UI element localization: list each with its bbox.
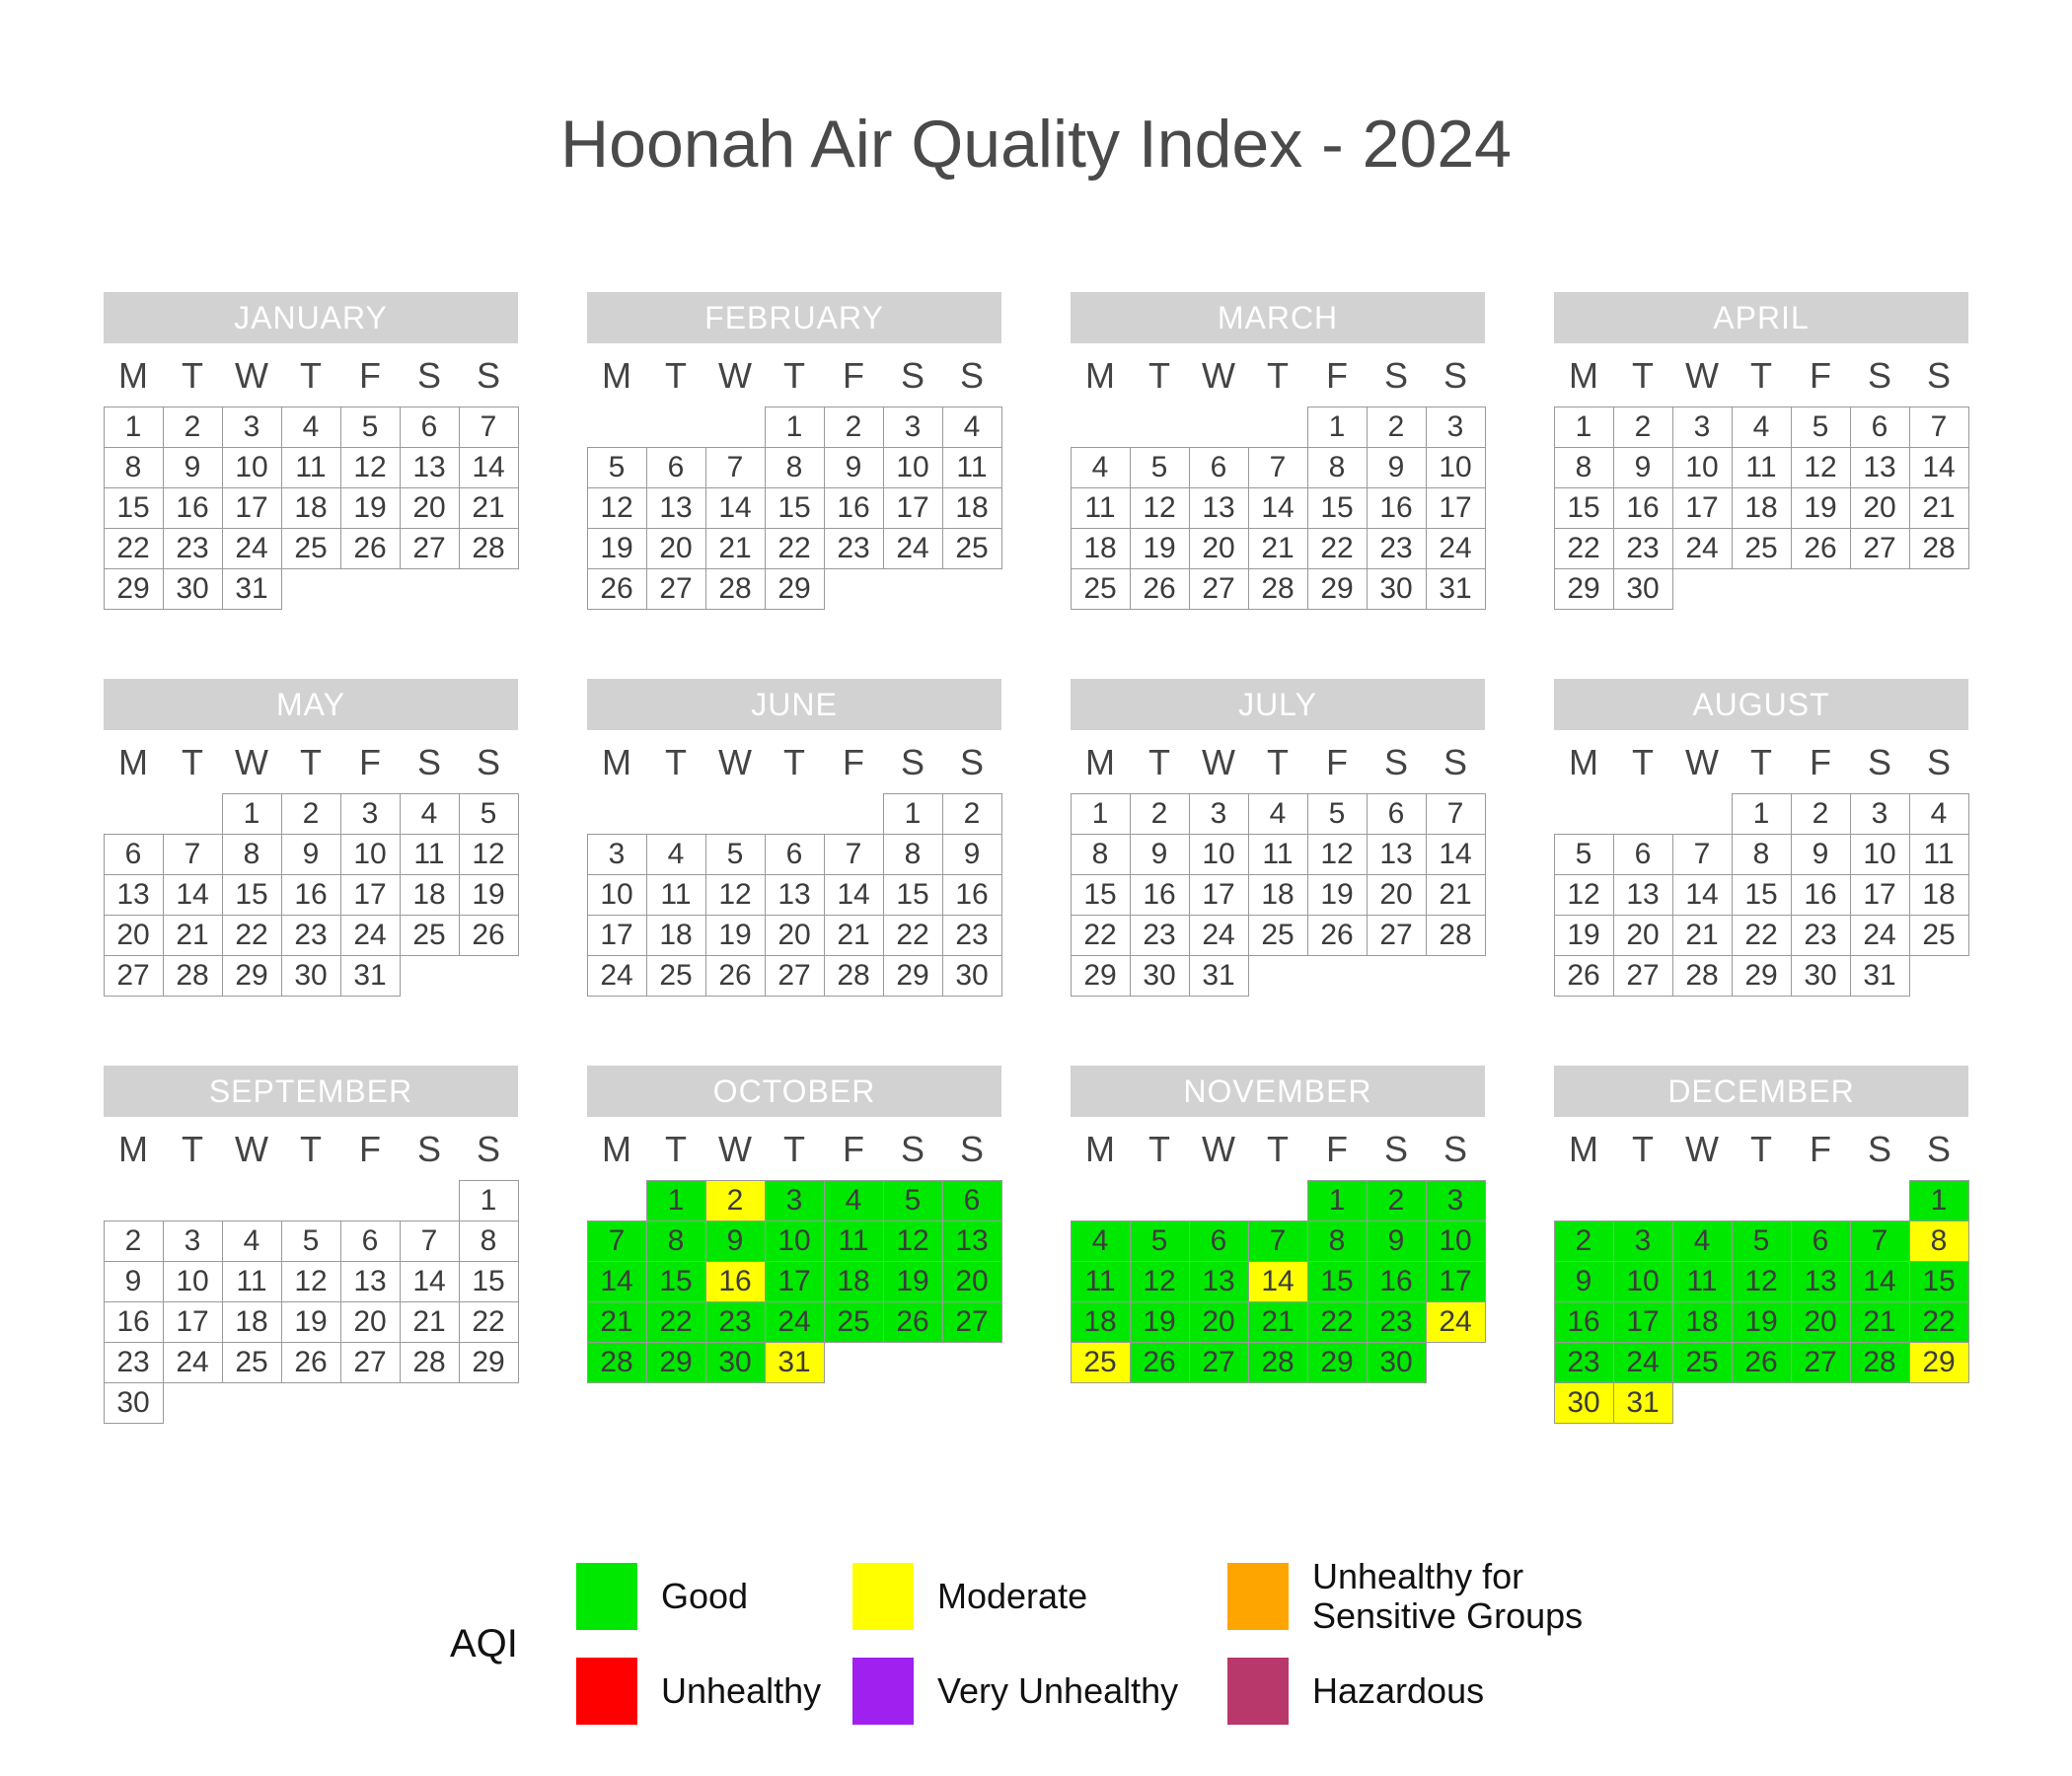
day-cell[interactable]: 7: [1426, 793, 1486, 835]
day-cell[interactable]: 28: [1248, 1342, 1308, 1383]
day-cell[interactable]: 20: [340, 1301, 401, 1343]
day-cell[interactable]: 6: [765, 834, 825, 875]
day-cell[interactable]: 9: [1613, 447, 1673, 488]
day-cell[interactable]: 21: [1850, 1301, 1910, 1343]
day-cell[interactable]: 29: [765, 568, 825, 610]
day-cell[interactable]: 10: [163, 1261, 223, 1302]
day-cell[interactable]: 10: [1613, 1261, 1673, 1302]
day-cell[interactable]: 13: [400, 447, 460, 488]
day-cell[interactable]: 15: [104, 487, 164, 529]
day-cell[interactable]: 9: [705, 1221, 766, 1262]
day-cell[interactable]: 13: [942, 1221, 1002, 1262]
day-cell[interactable]: 8: [883, 834, 943, 875]
day-cell[interactable]: 10: [587, 874, 647, 916]
day-cell[interactable]: 11: [942, 447, 1002, 488]
day-cell[interactable]: 24: [1426, 528, 1486, 569]
day-cell[interactable]: 12: [1130, 487, 1190, 529]
day-cell[interactable]: 29: [104, 568, 164, 610]
day-cell[interactable]: 2: [281, 793, 341, 835]
day-cell[interactable]: 31: [222, 568, 282, 610]
day-cell[interactable]: 16: [163, 487, 223, 529]
day-cell[interactable]: 30: [1554, 1382, 1614, 1424]
day-cell[interactable]: 14: [1248, 487, 1308, 529]
day-cell[interactable]: 22: [1909, 1301, 1969, 1343]
day-cell[interactable]: 2: [163, 407, 223, 448]
day-cell[interactable]: 22: [1307, 1301, 1368, 1343]
day-cell[interactable]: 19: [1791, 487, 1851, 529]
day-cell[interactable]: 25: [400, 915, 460, 956]
day-cell[interactable]: 16: [1613, 487, 1673, 529]
day-cell[interactable]: 29: [1909, 1342, 1969, 1383]
day-cell[interactable]: 3: [1426, 407, 1486, 448]
day-cell[interactable]: 7: [1909, 407, 1969, 448]
day-cell[interactable]: 27: [340, 1342, 401, 1383]
day-cell[interactable]: 22: [765, 528, 825, 569]
day-cell[interactable]: 19: [1307, 874, 1368, 916]
day-cell[interactable]: 29: [1307, 568, 1368, 610]
day-cell[interactable]: 11: [1071, 487, 1131, 529]
day-cell[interactable]: 3: [883, 407, 943, 448]
day-cell[interactable]: 21: [705, 528, 766, 569]
day-cell[interactable]: 17: [1613, 1301, 1673, 1343]
day-cell[interactable]: 10: [1426, 447, 1486, 488]
day-cell[interactable]: 7: [400, 1221, 460, 1262]
day-cell[interactable]: 8: [1909, 1221, 1969, 1262]
day-cell[interactable]: 5: [1791, 407, 1851, 448]
day-cell[interactable]: 3: [1850, 793, 1910, 835]
day-cell[interactable]: 27: [1613, 955, 1673, 997]
day-cell[interactable]: 16: [1367, 1261, 1427, 1302]
day-cell[interactable]: 3: [1613, 1221, 1673, 1262]
day-cell[interactable]: 23: [705, 1301, 766, 1343]
day-cell[interactable]: 3: [163, 1221, 223, 1262]
day-cell[interactable]: 1: [646, 1180, 706, 1221]
day-cell[interactable]: 1: [1307, 1180, 1368, 1221]
day-cell[interactable]: 22: [1554, 528, 1614, 569]
day-cell[interactable]: 25: [1732, 528, 1792, 569]
day-cell[interactable]: 19: [1554, 915, 1614, 956]
day-cell[interactable]: 8: [1307, 1221, 1368, 1262]
day-cell[interactable]: 9: [281, 834, 341, 875]
day-cell[interactable]: 4: [1071, 447, 1131, 488]
day-cell[interactable]: 28: [1672, 955, 1733, 997]
day-cell[interactable]: 5: [1130, 447, 1190, 488]
day-cell[interactable]: 6: [1850, 407, 1910, 448]
day-cell[interactable]: 21: [1426, 874, 1486, 916]
day-cell[interactable]: 23: [163, 528, 223, 569]
day-cell[interactable]: 17: [340, 874, 401, 916]
day-cell[interactable]: 5: [883, 1180, 943, 1221]
day-cell[interactable]: 14: [587, 1261, 647, 1302]
day-cell[interactable]: 25: [824, 1301, 884, 1343]
day-cell[interactable]: 7: [705, 447, 766, 488]
day-cell[interactable]: 24: [1672, 528, 1733, 569]
day-cell[interactable]: 16: [824, 487, 884, 529]
day-cell[interactable]: 11: [400, 834, 460, 875]
day-cell[interactable]: 1: [1554, 407, 1614, 448]
day-cell[interactable]: 30: [104, 1382, 164, 1424]
day-cell[interactable]: 25: [1909, 915, 1969, 956]
day-cell[interactable]: 1: [222, 793, 282, 835]
day-cell[interactable]: 1: [104, 407, 164, 448]
day-cell[interactable]: 11: [281, 447, 341, 488]
day-cell[interactable]: 10: [1189, 834, 1249, 875]
day-cell[interactable]: 11: [1672, 1261, 1733, 1302]
day-cell[interactable]: 28: [1850, 1342, 1910, 1383]
day-cell[interactable]: 3: [222, 407, 282, 448]
day-cell[interactable]: 27: [765, 955, 825, 997]
day-cell[interactable]: 27: [400, 528, 460, 569]
day-cell[interactable]: 4: [1672, 1221, 1733, 1262]
day-cell[interactable]: 12: [340, 447, 401, 488]
day-cell[interactable]: 5: [281, 1221, 341, 1262]
day-cell[interactable]: 6: [1189, 447, 1249, 488]
day-cell[interactable]: 19: [281, 1301, 341, 1343]
day-cell[interactable]: 5: [705, 834, 766, 875]
day-cell[interactable]: 7: [587, 1221, 647, 1262]
day-cell[interactable]: 27: [1367, 915, 1427, 956]
day-cell[interactable]: 2: [1613, 407, 1673, 448]
day-cell[interactable]: 3: [1426, 1180, 1486, 1221]
day-cell[interactable]: 4: [281, 407, 341, 448]
day-cell[interactable]: 2: [1367, 1180, 1427, 1221]
day-cell[interactable]: 14: [705, 487, 766, 529]
day-cell[interactable]: 9: [1367, 1221, 1427, 1262]
day-cell[interactable]: 24: [163, 1342, 223, 1383]
day-cell[interactable]: 7: [1672, 834, 1733, 875]
day-cell[interactable]: 18: [1909, 874, 1969, 916]
day-cell[interactable]: 29: [1554, 568, 1614, 610]
day-cell[interactable]: 24: [1850, 915, 1910, 956]
day-cell[interactable]: 19: [705, 915, 766, 956]
day-cell[interactable]: 13: [1189, 487, 1249, 529]
day-cell[interactable]: 18: [646, 915, 706, 956]
day-cell[interactable]: 25: [1071, 568, 1131, 610]
day-cell[interactable]: 27: [104, 955, 164, 997]
day-cell[interactable]: 13: [1613, 874, 1673, 916]
day-cell[interactable]: 15: [1909, 1261, 1969, 1302]
day-cell[interactable]: 23: [824, 528, 884, 569]
day-cell[interactable]: 28: [1909, 528, 1969, 569]
day-cell[interactable]: 12: [1554, 874, 1614, 916]
day-cell[interactable]: 21: [459, 487, 519, 529]
day-cell[interactable]: 31: [1850, 955, 1910, 997]
day-cell[interactable]: 28: [824, 955, 884, 997]
day-cell[interactable]: 29: [883, 955, 943, 997]
day-cell[interactable]: 26: [459, 915, 519, 956]
day-cell[interactable]: 20: [104, 915, 164, 956]
day-cell[interactable]: 5: [1732, 1221, 1792, 1262]
day-cell[interactable]: 30: [1367, 1342, 1427, 1383]
day-cell[interactable]: 27: [942, 1301, 1002, 1343]
day-cell[interactable]: 16: [104, 1301, 164, 1343]
day-cell[interactable]: 14: [1426, 834, 1486, 875]
day-cell[interactable]: 15: [646, 1261, 706, 1302]
day-cell[interactable]: 15: [1307, 487, 1368, 529]
day-cell[interactable]: 15: [1307, 1261, 1368, 1302]
day-cell[interactable]: 12: [1130, 1261, 1190, 1302]
day-cell[interactable]: 22: [883, 915, 943, 956]
day-cell[interactable]: 7: [1850, 1221, 1910, 1262]
day-cell[interactable]: 23: [104, 1342, 164, 1383]
day-cell[interactable]: 25: [1071, 1342, 1131, 1383]
day-cell[interactable]: 2: [824, 407, 884, 448]
day-cell[interactable]: 20: [942, 1261, 1002, 1302]
day-cell[interactable]: 13: [1189, 1261, 1249, 1302]
day-cell[interactable]: 24: [222, 528, 282, 569]
day-cell[interactable]: 2: [1367, 407, 1427, 448]
day-cell[interactable]: 18: [1248, 874, 1308, 916]
day-cell[interactable]: 14: [1672, 874, 1733, 916]
day-cell[interactable]: 20: [1791, 1301, 1851, 1343]
day-cell[interactable]: 29: [1732, 955, 1792, 997]
day-cell[interactable]: 2: [942, 793, 1002, 835]
day-cell[interactable]: 25: [281, 528, 341, 569]
day-cell[interactable]: 19: [883, 1261, 943, 1302]
day-cell[interactable]: 13: [340, 1261, 401, 1302]
day-cell[interactable]: 6: [1791, 1221, 1851, 1262]
day-cell[interactable]: 17: [163, 1301, 223, 1343]
day-cell[interactable]: 15: [883, 874, 943, 916]
day-cell[interactable]: 30: [1367, 568, 1427, 610]
day-cell[interactable]: 12: [1791, 447, 1851, 488]
day-cell[interactable]: 4: [1732, 407, 1792, 448]
day-cell[interactable]: 22: [1071, 915, 1131, 956]
day-cell[interactable]: 6: [1367, 793, 1427, 835]
day-cell[interactable]: 8: [222, 834, 282, 875]
day-cell[interactable]: 6: [104, 834, 164, 875]
day-cell[interactable]: 11: [222, 1261, 282, 1302]
day-cell[interactable]: 17: [1672, 487, 1733, 529]
day-cell[interactable]: 4: [646, 834, 706, 875]
day-cell[interactable]: 14: [163, 874, 223, 916]
day-cell[interactable]: 13: [1791, 1261, 1851, 1302]
day-cell[interactable]: 26: [1130, 1342, 1190, 1383]
day-cell[interactable]: 11: [1909, 834, 1969, 875]
day-cell[interactable]: 29: [459, 1342, 519, 1383]
day-cell[interactable]: 27: [646, 568, 706, 610]
day-cell[interactable]: 18: [222, 1301, 282, 1343]
day-cell[interactable]: 26: [883, 1301, 943, 1343]
day-cell[interactable]: 4: [400, 793, 460, 835]
day-cell[interactable]: 13: [1367, 834, 1427, 875]
day-cell[interactable]: 25: [646, 955, 706, 997]
day-cell[interactable]: 24: [340, 915, 401, 956]
day-cell[interactable]: 6: [646, 447, 706, 488]
day-cell[interactable]: 18: [942, 487, 1002, 529]
day-cell[interactable]: 23: [1613, 528, 1673, 569]
day-cell[interactable]: 11: [1071, 1261, 1131, 1302]
day-cell[interactable]: 10: [1672, 447, 1733, 488]
day-cell[interactable]: 28: [587, 1342, 647, 1383]
day-cell[interactable]: 16: [1367, 487, 1427, 529]
day-cell[interactable]: 9: [824, 447, 884, 488]
day-cell[interactable]: 21: [1672, 915, 1733, 956]
day-cell[interactable]: 21: [587, 1301, 647, 1343]
day-cell[interactable]: 5: [1130, 1221, 1190, 1262]
day-cell[interactable]: 19: [1732, 1301, 1792, 1343]
day-cell[interactable]: 1: [883, 793, 943, 835]
day-cell[interactable]: 30: [942, 955, 1002, 997]
day-cell[interactable]: 25: [1248, 915, 1308, 956]
day-cell[interactable]: 3: [340, 793, 401, 835]
day-cell[interactable]: 16: [1554, 1301, 1614, 1343]
day-cell[interactable]: 2: [1791, 793, 1851, 835]
day-cell[interactable]: 21: [1248, 528, 1308, 569]
day-cell[interactable]: 16: [942, 874, 1002, 916]
day-cell[interactable]: 10: [340, 834, 401, 875]
day-cell[interactable]: 21: [824, 915, 884, 956]
day-cell[interactable]: 24: [587, 955, 647, 997]
day-cell[interactable]: 12: [587, 487, 647, 529]
day-cell[interactable]: 8: [646, 1221, 706, 1262]
day-cell[interactable]: 4: [942, 407, 1002, 448]
day-cell[interactable]: 2: [1554, 1221, 1614, 1262]
day-cell[interactable]: 23: [1130, 915, 1190, 956]
day-cell[interactable]: 10: [1426, 1221, 1486, 1262]
day-cell[interactable]: 23: [281, 915, 341, 956]
day-cell[interactable]: 19: [459, 874, 519, 916]
day-cell[interactable]: 14: [1909, 447, 1969, 488]
day-cell[interactable]: 1: [459, 1180, 519, 1221]
day-cell[interactable]: 15: [459, 1261, 519, 1302]
day-cell[interactable]: 15: [222, 874, 282, 916]
day-cell[interactable]: 15: [1071, 874, 1131, 916]
day-cell[interactable]: 8: [765, 447, 825, 488]
day-cell[interactable]: 20: [400, 487, 460, 529]
day-cell[interactable]: 16: [1791, 874, 1851, 916]
day-cell[interactable]: 6: [942, 1180, 1002, 1221]
day-cell[interactable]: 14: [1248, 1261, 1308, 1302]
day-cell[interactable]: 30: [281, 955, 341, 997]
day-cell[interactable]: 5: [1307, 793, 1368, 835]
day-cell[interactable]: 21: [1248, 1301, 1308, 1343]
day-cell[interactable]: 3: [1672, 407, 1733, 448]
day-cell[interactable]: 10: [222, 447, 282, 488]
day-cell[interactable]: 26: [1554, 955, 1614, 997]
day-cell[interactable]: 11: [1732, 447, 1792, 488]
day-cell[interactable]: 14: [824, 874, 884, 916]
day-cell[interactable]: 12: [459, 834, 519, 875]
day-cell[interactable]: 5: [587, 447, 647, 488]
day-cell[interactable]: 31: [1189, 955, 1249, 997]
day-cell[interactable]: 22: [104, 528, 164, 569]
day-cell[interactable]: 4: [1071, 1221, 1131, 1262]
day-cell[interactable]: 9: [1554, 1261, 1614, 1302]
day-cell[interactable]: 24: [1613, 1342, 1673, 1383]
day-cell[interactable]: 31: [765, 1342, 825, 1383]
day-cell[interactable]: 19: [1130, 1301, 1190, 1343]
day-cell[interactable]: 26: [587, 568, 647, 610]
day-cell[interactable]: 16: [705, 1261, 766, 1302]
day-cell[interactable]: 7: [163, 834, 223, 875]
day-cell[interactable]: 11: [1248, 834, 1308, 875]
day-cell[interactable]: 26: [1791, 528, 1851, 569]
day-cell[interactable]: 25: [942, 528, 1002, 569]
day-cell[interactable]: 26: [1307, 915, 1368, 956]
day-cell[interactable]: 30: [163, 568, 223, 610]
day-cell[interactable]: 28: [1426, 915, 1486, 956]
day-cell[interactable]: 16: [1130, 874, 1190, 916]
day-cell[interactable]: 17: [883, 487, 943, 529]
day-cell[interactable]: 1: [1732, 793, 1792, 835]
day-cell[interactable]: 22: [1307, 528, 1368, 569]
day-cell[interactable]: 30: [1791, 955, 1851, 997]
day-cell[interactable]: 18: [1071, 1301, 1131, 1343]
day-cell[interactable]: 6: [400, 407, 460, 448]
day-cell[interactable]: 15: [765, 487, 825, 529]
day-cell[interactable]: 22: [646, 1301, 706, 1343]
day-cell[interactable]: 31: [1613, 1382, 1673, 1424]
day-cell[interactable]: 23: [1554, 1342, 1614, 1383]
day-cell[interactable]: 13: [104, 874, 164, 916]
day-cell[interactable]: 18: [824, 1261, 884, 1302]
day-cell[interactable]: 9: [104, 1261, 164, 1302]
day-cell[interactable]: 19: [340, 487, 401, 529]
day-cell[interactable]: 25: [1672, 1342, 1733, 1383]
day-cell[interactable]: 24: [883, 528, 943, 569]
day-cell[interactable]: 11: [824, 1221, 884, 1262]
day-cell[interactable]: 23: [1367, 528, 1427, 569]
day-cell[interactable]: 9: [1367, 447, 1427, 488]
day-cell[interactable]: 29: [222, 955, 282, 997]
day-cell[interactable]: 28: [705, 568, 766, 610]
day-cell[interactable]: 31: [340, 955, 401, 997]
day-cell[interactable]: 8: [1732, 834, 1792, 875]
day-cell[interactable]: 17: [1189, 874, 1249, 916]
day-cell[interactable]: 20: [646, 528, 706, 569]
day-cell[interactable]: 9: [942, 834, 1002, 875]
day-cell[interactable]: 26: [705, 955, 766, 997]
day-cell[interactable]: 20: [765, 915, 825, 956]
day-cell[interactable]: 7: [824, 834, 884, 875]
day-cell[interactable]: 13: [1850, 447, 1910, 488]
day-cell[interactable]: 26: [1732, 1342, 1792, 1383]
day-cell[interactable]: 15: [1554, 487, 1614, 529]
day-cell[interactable]: 25: [222, 1342, 282, 1383]
day-cell[interactable]: 5: [459, 793, 519, 835]
day-cell[interactable]: 9: [1791, 834, 1851, 875]
day-cell[interactable]: 11: [646, 874, 706, 916]
day-cell[interactable]: 27: [1850, 528, 1910, 569]
day-cell[interactable]: 22: [1732, 915, 1792, 956]
day-cell[interactable]: 28: [163, 955, 223, 997]
day-cell[interactable]: 4: [1248, 793, 1308, 835]
day-cell[interactable]: 20: [1189, 528, 1249, 569]
day-cell[interactable]: 13: [765, 874, 825, 916]
day-cell[interactable]: 26: [281, 1342, 341, 1383]
day-cell[interactable]: 4: [222, 1221, 282, 1262]
day-cell[interactable]: 17: [587, 915, 647, 956]
day-cell[interactable]: 23: [942, 915, 1002, 956]
day-cell[interactable]: 10: [883, 447, 943, 488]
day-cell[interactable]: 20: [1367, 874, 1427, 916]
day-cell[interactable]: 4: [1909, 793, 1969, 835]
day-cell[interactable]: 14: [1850, 1261, 1910, 1302]
day-cell[interactable]: 1: [1909, 1180, 1969, 1221]
day-cell[interactable]: 23: [1791, 915, 1851, 956]
day-cell[interactable]: 2: [1130, 793, 1190, 835]
day-cell[interactable]: 18: [1732, 487, 1792, 529]
day-cell[interactable]: 27: [1189, 568, 1249, 610]
day-cell[interactable]: 21: [163, 915, 223, 956]
day-cell[interactable]: 28: [1248, 568, 1308, 610]
day-cell[interactable]: 9: [1130, 834, 1190, 875]
day-cell[interactable]: 23: [1367, 1301, 1427, 1343]
day-cell[interactable]: 29: [646, 1342, 706, 1383]
day-cell[interactable]: 4: [824, 1180, 884, 1221]
day-cell[interactable]: 18: [1672, 1301, 1733, 1343]
